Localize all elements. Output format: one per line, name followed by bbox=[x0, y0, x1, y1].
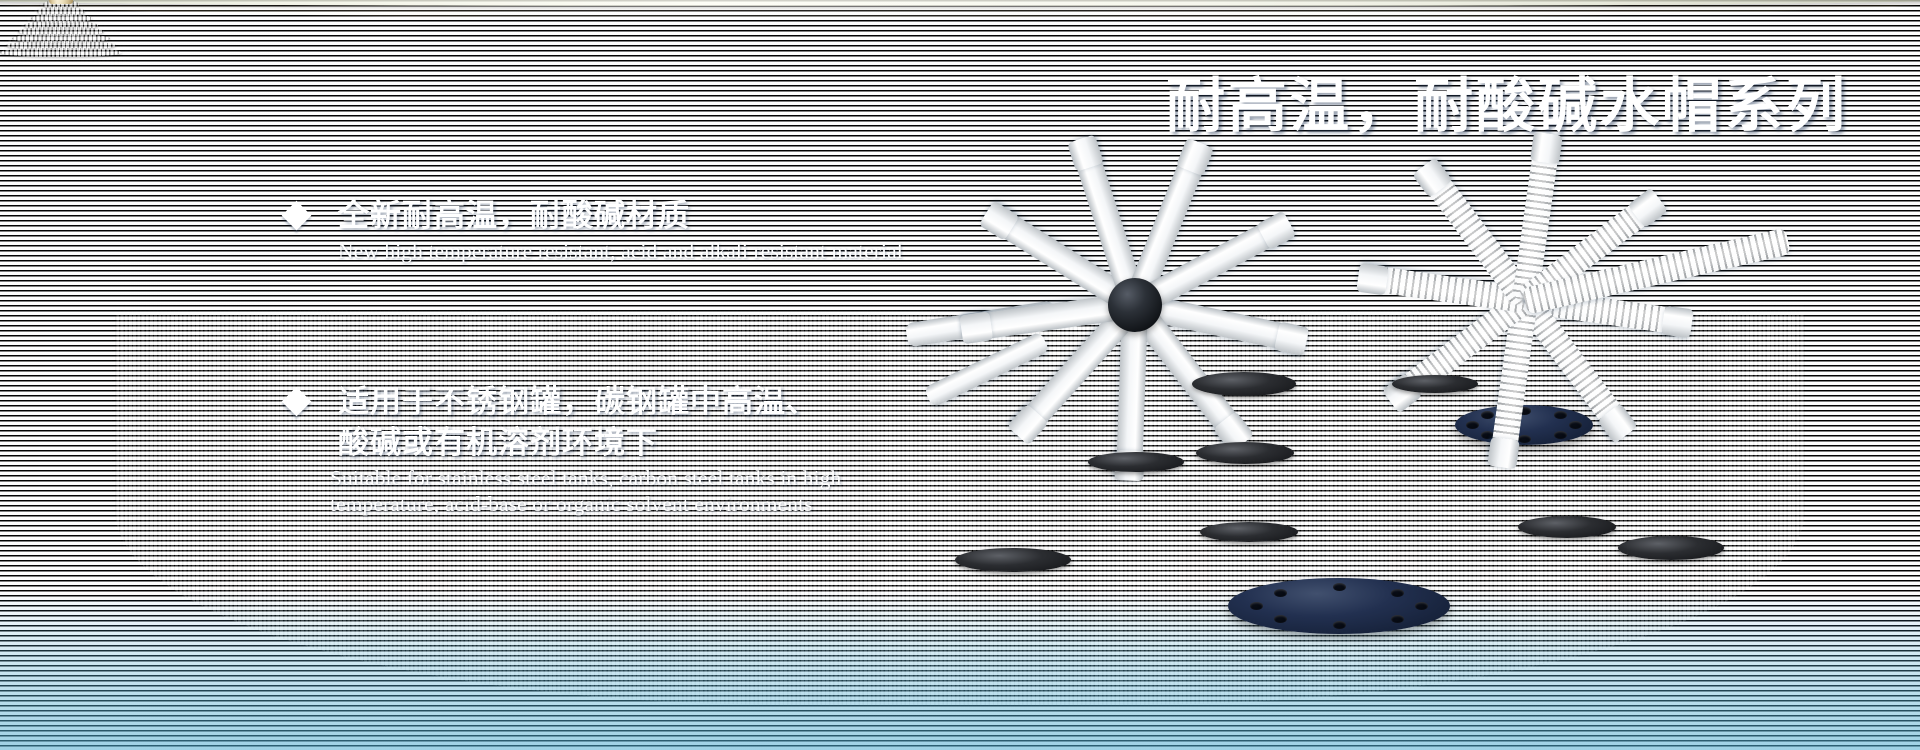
flange-bolt-hole bbox=[1391, 589, 1404, 597]
flange-bolt-hole bbox=[1333, 621, 1346, 629]
arm-tip-collar bbox=[960, 311, 993, 344]
arm-tip-collar bbox=[1487, 436, 1520, 468]
flange-bolt-hole bbox=[1333, 583, 1346, 591]
diamond-bullet-icon bbox=[282, 201, 312, 231]
rubber-oring-seal bbox=[1200, 522, 1298, 542]
flange-bolt-hole bbox=[1415, 602, 1428, 610]
rubber-oring-seal bbox=[1392, 375, 1478, 393]
feature-2-en: Suitable for stainless steel tanks, carb… bbox=[330, 465, 1046, 517]
cap-step-ring bbox=[0, 48, 122, 57]
flange-bolt-hole bbox=[1554, 411, 1567, 419]
rubber-oring-seal bbox=[1196, 442, 1294, 464]
flange-bolt-hole bbox=[1481, 411, 1494, 419]
arm-tip-collar bbox=[1661, 305, 1693, 338]
bolt-flange-base bbox=[1228, 578, 1450, 634]
feature-2-cn-line1: 适用于不锈钢罐，碳钢罐中高温、 bbox=[338, 384, 818, 420]
feature-bullet-list: 全新耐高温，耐酸碱材质 New high temperature resista… bbox=[286, 196, 1046, 517]
banner-headline: 耐高温，耐酸碱水帽系列 bbox=[1166, 58, 1848, 143]
feature-1-cn: 全新耐高温，耐酸碱材质 bbox=[338, 196, 1046, 237]
flange-bolt-hole bbox=[1466, 421, 1479, 429]
rubber-oring-seal bbox=[1192, 372, 1296, 396]
rubber-oring-seal bbox=[1618, 536, 1724, 560]
product-banner: 耐高温，耐酸碱水帽系列 全新耐高温，耐酸碱材质 New high tempera… bbox=[0, 0, 1920, 750]
arm-tip-collar bbox=[1530, 132, 1563, 164]
flange-bolt-hole bbox=[1274, 589, 1287, 597]
flange-bolt-hole bbox=[1250, 602, 1263, 610]
flange-bolt-hole bbox=[1569, 421, 1582, 429]
feature-bullet-1: 全新耐高温，耐酸碱材质 New high temperature resista… bbox=[286, 196, 1046, 264]
feature-2-cn-line2: 酸碱或有机溶剂环境下 bbox=[338, 423, 1046, 464]
flange-bolt-hole bbox=[1391, 615, 1404, 623]
rubber-oring-seal bbox=[955, 548, 1071, 572]
flange-bolt-hole bbox=[1554, 431, 1567, 439]
cap-top-knob bbox=[49, 0, 73, 4]
feature-1-en: New high temperature resistant, acid and… bbox=[338, 238, 1046, 264]
flange-bolt-hole bbox=[1518, 435, 1531, 443]
rubber-oring-seal bbox=[1088, 452, 1184, 472]
star-assembly-hub bbox=[1108, 278, 1162, 332]
arm-tip-collar bbox=[1274, 321, 1309, 356]
bolt-flange-base bbox=[1455, 405, 1593, 445]
diamond-bullet-icon bbox=[282, 387, 312, 417]
flange-bolt-hole bbox=[1274, 615, 1287, 623]
rubber-oring-seal bbox=[1518, 516, 1616, 538]
feature-2-en-line1: Suitable for stainless steel tanks, carb… bbox=[330, 465, 1046, 491]
arm-tip-collar bbox=[1357, 262, 1389, 295]
feature-2-en-line2: temperature, acid-base or organic solven… bbox=[330, 491, 1046, 517]
